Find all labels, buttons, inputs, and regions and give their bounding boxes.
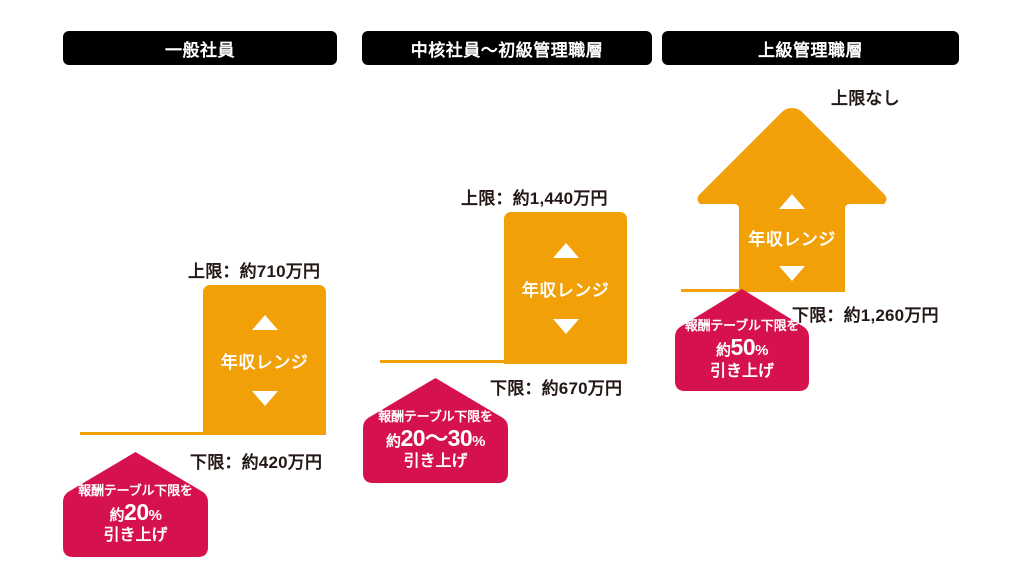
lower-limit-caption: 下限：約1,260万円 [792, 301, 939, 326]
salary-range-bar: 年収レンジ [504, 212, 627, 364]
badge-unit: % [472, 433, 485, 450]
salary-range-diagram: 一般社員 中核社員〜初級管理職層 上級管理職層 年収レンジ 上限：約710万円 … [0, 0, 1024, 576]
badge-line-3: 引き上げ [403, 452, 467, 471]
increase-badge: 報酬テーブル下限を 約20〜30% 引き上げ [363, 378, 508, 483]
badge-line-2: 約20% [110, 499, 162, 527]
badge-value: 20〜30 [401, 425, 473, 451]
column-senior-management: 年収レンジ 上限なし 下限：約1,260万円 報酬テーブル下限を 約50% 引き… [660, 0, 1000, 576]
badge-line-1: 報酬テーブル下限を [685, 319, 799, 334]
triangle-up-icon [779, 194, 805, 209]
range-bar-label: 年収レンジ [221, 348, 309, 373]
badge-unit: % [149, 507, 162, 524]
upper-limit-caption: 上限：約1,440万円 [461, 184, 608, 209]
triangle-up-icon [553, 243, 579, 258]
badge-unit: % [755, 342, 768, 359]
triangle-down-icon [553, 319, 579, 334]
badge-value: 20 [124, 499, 149, 525]
lower-limit-baseline [380, 360, 506, 363]
lower-limit-caption: 下限：約670万円 [490, 374, 622, 399]
lower-limit-caption: 下限：約420万円 [190, 448, 322, 473]
badge-line-1: 報酬テーブル下限を [78, 484, 192, 499]
badge-line-2: 約50% [716, 334, 768, 362]
badge-prefix: 約 [386, 433, 401, 450]
badge-line-3: 引き上げ [710, 362, 774, 381]
badge-text: 報酬テーブル下限を 約20% 引き上げ [63, 452, 208, 557]
upper-limit-caption: 上限：約710万円 [188, 257, 320, 282]
badge-line-1: 報酬テーブル下限を [378, 410, 492, 425]
badge-line-2: 約20〜30% [386, 425, 485, 453]
range-bar-label: 年収レンジ [522, 276, 610, 301]
column-core-staff: 年収レンジ 上限：約1,440万円 下限：約670万円 報酬テーブル下限を 約2… [341, 0, 681, 576]
column-general-staff: 年収レンジ 上限：約710万円 下限：約420万円 報酬テーブル下限を 約20%… [0, 0, 340, 576]
triangle-down-icon [252, 391, 278, 406]
lower-limit-baseline [80, 432, 205, 435]
badge-text: 報酬テーブル下限を 約50% 引き上げ [675, 289, 809, 391]
range-bar-label: 年収レンジ [748, 225, 836, 250]
triangle-up-icon [252, 315, 278, 330]
badge-prefix: 約 [716, 342, 731, 359]
triangle-down-icon [779, 266, 805, 281]
increase-badge: 報酬テーブル下限を 約20% 引き上げ [63, 452, 208, 557]
upper-limit-caption: 上限なし [831, 84, 900, 109]
salary-range-bar: 年収レンジ [203, 285, 326, 435]
arrow-content: 年収レンジ [695, 194, 889, 281]
badge-prefix: 約 [110, 507, 125, 524]
badge-value: 50 [731, 334, 756, 360]
badge-text: 報酬テーブル下限を 約20〜30% 引き上げ [363, 378, 508, 483]
salary-range-arrow: 年収レンジ [695, 108, 889, 292]
badge-line-3: 引き上げ [103, 526, 167, 545]
increase-badge: 報酬テーブル下限を 約50% 引き上げ [675, 289, 809, 391]
